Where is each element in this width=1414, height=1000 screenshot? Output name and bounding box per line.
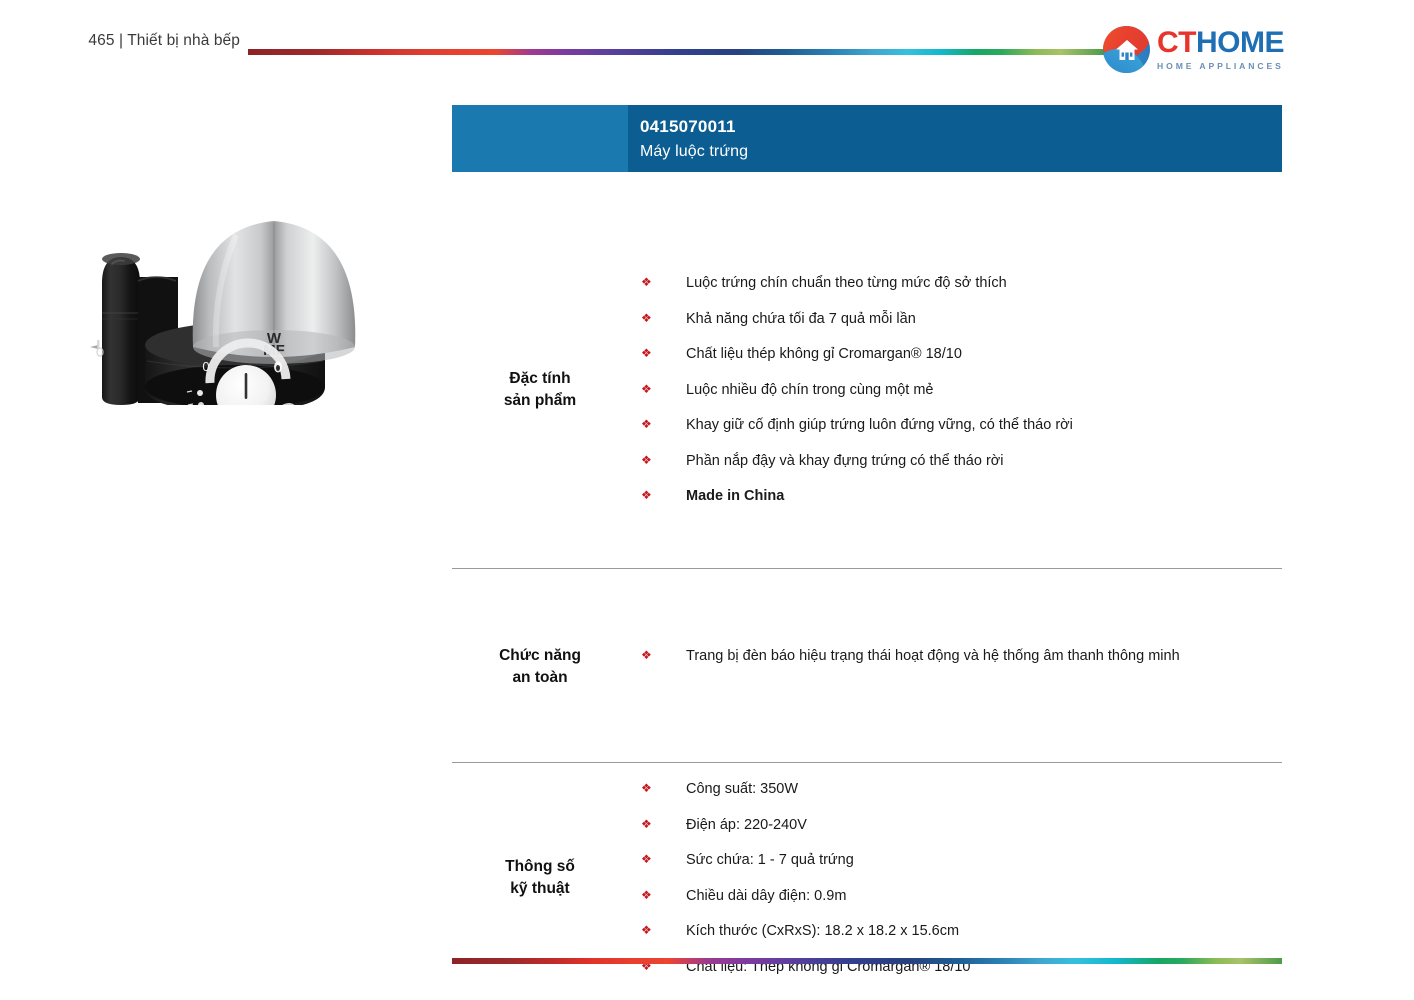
product-name: Máy luộc trứng: [640, 141, 1282, 163]
list-item: ❖ Luộc trứng chín chuẩn theo từng mức độ…: [640, 272, 1282, 294]
piercer-pin-icon: [90, 340, 103, 356]
product-title-bar: 0415070011 Máy luộc trứng: [452, 105, 1282, 172]
list-item-text: Luộc trứng chín chuẩn theo từng mức độ s…: [686, 272, 1282, 294]
list-item: ❖ Điện áp: 220-240V: [640, 814, 1282, 836]
section-safety-label: Chức năng an toàn: [452, 645, 628, 689]
list-item-text: Sức chứa: 1 - 7 quả trứng: [686, 849, 1282, 871]
safety-list: ❖ Trang bị đèn báo hiệu trạng thái hoạt …: [640, 645, 1282, 667]
title-bar-right-block: 0415070011 Máy luộc trứng: [628, 105, 1282, 172]
list-item-text: Made in China: [686, 485, 1282, 507]
logo-word-ct: CT: [1157, 26, 1196, 59]
section-safety-body: ❖ Trang bị đèn báo hiệu trạng thái hoạt …: [628, 645, 1282, 689]
list-item: ❖ Made in China: [640, 485, 1282, 507]
bullet-icon: ❖: [640, 645, 686, 665]
list-item-text: Khay giữ cố định giúp trứng luôn đứng vữ…: [686, 414, 1282, 436]
bullet-icon: ❖: [640, 379, 686, 399]
list-item-text: Điện áp: 220-240V: [686, 814, 1282, 836]
features-list: ❖ Luộc trứng chín chuẩn theo từng mức độ…: [640, 272, 1282, 507]
list-item-text: Kích thước (CxRxS): 18.2 x 18.2 x 15.6cm: [686, 920, 1282, 942]
bullet-icon: ❖: [640, 849, 686, 869]
dial-pointer: [245, 373, 248, 399]
page-header: 465 | Thiết bị nhà bếp CTHOME HOME APPLI…: [0, 0, 1414, 85]
footer-rainbow-rule: [452, 958, 1282, 964]
section-divider: [452, 568, 1282, 569]
product-photo: W MF 0: [50, 105, 410, 405]
bullet-icon: ❖: [640, 920, 686, 940]
product-code: 0415070011: [640, 116, 1282, 139]
list-item: ❖ Công suất: 350W: [640, 778, 1282, 800]
page-folio: 465 | Thiết bị nhà bếp: [40, 30, 240, 52]
section-divider: [452, 762, 1282, 763]
section-safety: Chức năng an toàn ❖ Trang bị đèn báo hiệ…: [452, 645, 1282, 689]
bullet-icon: ❖: [640, 814, 686, 834]
list-item: ❖ Chiều dài dây điện: 0.9m: [640, 885, 1282, 907]
title-bar-left-block: [452, 105, 628, 172]
dial-zero-mark: 0: [202, 359, 209, 374]
house-in-circle-icon: [1103, 26, 1150, 73]
specs-list: ❖ Công suất: 350W ❖ Điện áp: 220-240V ❖ …: [640, 778, 1282, 977]
section-specs-label-line1: Thông số: [505, 856, 575, 878]
bullet-icon: ❖: [640, 343, 686, 363]
list-item: ❖ Phần nắp đậy và khay đựng trứng có thể…: [640, 450, 1282, 472]
bullet-icon: ❖: [640, 778, 686, 798]
catalog-page: 465 | Thiết bị nhà bếp CTHOME HOME APPLI…: [0, 0, 1414, 1000]
list-item: ❖ Chất liệu thép không gỉ Cromargan® 18/…: [640, 343, 1282, 365]
section-features-label-line1: Đặc tính: [504, 368, 576, 390]
steel-dome-lid: W MF: [193, 221, 356, 364]
section-safety-label-line1: Chức năng: [499, 645, 581, 667]
list-item-text: Trang bị đèn báo hiệu trạng thái hoạt độ…: [686, 645, 1282, 667]
house-icon: [1115, 39, 1139, 61]
section-features-label-line2: sản phẩm: [504, 390, 576, 412]
logo-wordmark: CTHOME HOME APPLIANCES: [1157, 28, 1284, 71]
bullet-icon: ❖: [640, 450, 686, 470]
list-item: ❖ Sức chứa: 1 - 7 quả trứng: [640, 849, 1282, 871]
bullet-icon: ❖: [640, 308, 686, 328]
bullet-icon: ❖: [640, 485, 686, 505]
list-item: ❖ Khả năng chứa tối đa 7 quả mỗi lần: [640, 308, 1282, 330]
section-features-body: ❖ Luộc trứng chín chuẩn theo từng mức độ…: [628, 272, 1282, 507]
section-features: Đặc tính sản phẩm ❖ Luộc trứng chín chuẩ…: [452, 272, 1282, 507]
section-features-label: Đặc tính sản phẩm: [452, 272, 628, 507]
list-item-text: Phần nắp đậy và khay đựng trứng có thể t…: [686, 450, 1282, 472]
brand-logo: CTHOME HOME APPLIANCES: [1103, 26, 1284, 73]
header-rainbow-rule: [248, 49, 1104, 55]
logo-word-home: HOME: [1196, 26, 1284, 59]
egg-icon-soft: [197, 390, 203, 396]
section-specs: Thông số kỹ thuật ❖ Công suất: 350W ❖ Đi…: [452, 778, 1282, 977]
bullet-icon: ❖: [640, 272, 686, 292]
bullet-icon: ❖: [640, 414, 686, 434]
section-specs-body: ❖ Công suất: 350W ❖ Điện áp: 220-240V ❖ …: [628, 778, 1282, 977]
section-specs-label-line2: kỹ thuật: [505, 878, 575, 900]
list-item: ❖ Luộc nhiều độ chín trong cùng một mẻ: [640, 379, 1282, 401]
logo-word-row: CTHOME: [1157, 28, 1284, 58]
list-item-text: Chiều dài dây điện: 0.9m: [686, 885, 1282, 907]
section-safety-label-line2: an toàn: [499, 667, 581, 689]
list-item-text: Khả năng chứa tối đa 7 quả mỗi lần: [686, 308, 1282, 330]
list-item-text: Luộc nhiều độ chín trong cùng một mẻ: [686, 379, 1282, 401]
list-item-text: Công suất: 350W: [686, 778, 1282, 800]
section-specs-label: Thông số kỹ thuật: [452, 778, 628, 977]
list-item: ❖ Khay giữ cố định giúp trứng luôn đứng …: [640, 414, 1282, 436]
list-item: ❖ Kích thước (CxRxS): 18.2 x 18.2 x 15.6…: [640, 920, 1282, 942]
bullet-icon: ❖: [640, 885, 686, 905]
list-item-text: Chất liệu thép không gỉ Cromargan® 18/10: [686, 343, 1282, 365]
logo-tagline: HOME APPLIANCES: [1157, 61, 1284, 71]
list-item: ❖ Trang bị đèn báo hiệu trạng thái hoạt …: [640, 645, 1282, 667]
